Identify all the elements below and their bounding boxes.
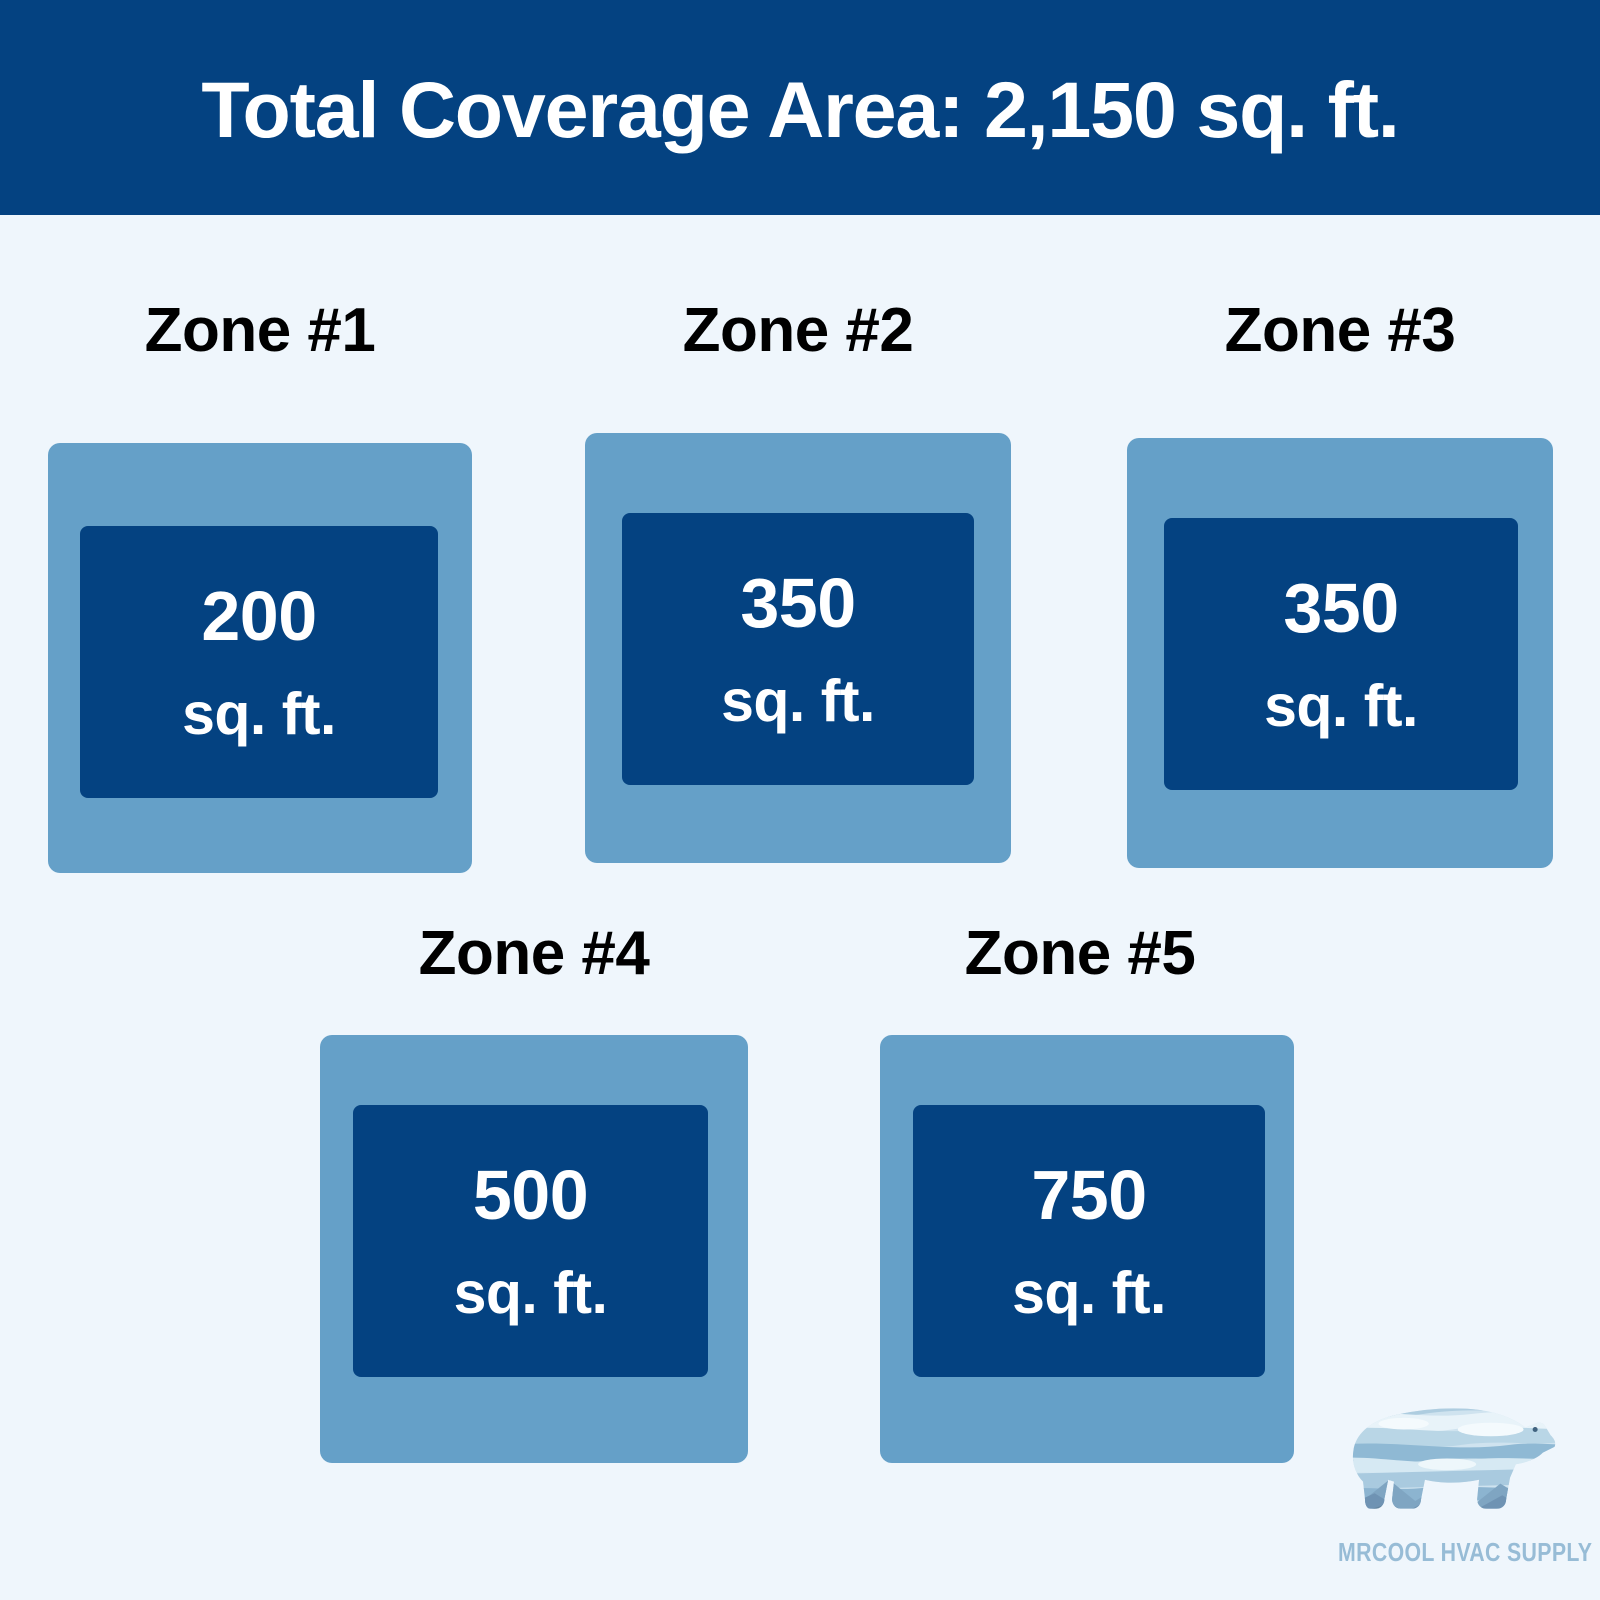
zone-inner-area-3: 350 sq. ft. [1164, 518, 1518, 790]
zone-card-2[interactable]: Zone #2 350 sq. ft. [585, 300, 1011, 863]
zone-outer-area-3: 350 sq. ft. [1127, 438, 1553, 868]
zone-card-1[interactable]: Zone #1 200 sq. ft. [48, 300, 472, 873]
zone-label-4: Zone #4 [320, 923, 748, 985]
zone-outer-area-1: 200 sq. ft. [48, 443, 472, 873]
zone-unit-2: sq. ft. [721, 672, 875, 731]
polar-bear-icon [1333, 1385, 1571, 1530]
brand-logo: MRCOOL HVAC SUPPLY [1315, 1385, 1585, 1590]
zone-label-1: Zone #1 [48, 300, 472, 362]
zone-outer-area-2: 350 sq. ft. [585, 433, 1011, 863]
zone-value-2: 350 [740, 568, 855, 638]
zone-card-3[interactable]: Zone #3 350 sq. ft. [1127, 300, 1553, 868]
infographic-page: Total Coverage Area: 2,150 sq. ft. Zone … [0, 0, 1600, 1600]
logo-wordmark: MRCOOL HVAC SUPPLY [1338, 1537, 1548, 1568]
zone-unit-1: sq. ft. [182, 685, 336, 744]
zone-label-3: Zone #3 [1127, 300, 1553, 362]
zone-inner-area-2: 350 sq. ft. [622, 513, 974, 785]
zone-label-5: Zone #5 [866, 923, 1294, 985]
zone-value-5: 750 [1031, 1160, 1146, 1230]
zone-card-4[interactable]: Zone #4 500 sq. ft. [320, 923, 748, 1463]
zone-outer-area-4: 500 sq. ft. [320, 1035, 748, 1463]
page-title: Total Coverage Area: 2,150 sq. ft. [201, 66, 1398, 149]
bear-eye-icon [1533, 1427, 1538, 1432]
zone-label-2: Zone #2 [585, 300, 1011, 362]
zone-value-4: 500 [473, 1160, 588, 1230]
zone-unit-3: sq. ft. [1264, 677, 1418, 736]
zone-card-5[interactable]: Zone #5 750 sq. ft. [866, 923, 1294, 1463]
zone-outer-area-5: 750 sq. ft. [880, 1035, 1294, 1463]
zone-unit-5: sq. ft. [1012, 1264, 1166, 1323]
zone-value-3: 350 [1283, 573, 1398, 643]
header-band: Total Coverage Area: 2,150 sq. ft. [0, 0, 1600, 215]
zone-inner-area-1: 200 sq. ft. [80, 526, 438, 798]
bear-landscape-fill [1336, 1385, 1568, 1530]
zone-unit-4: sq. ft. [454, 1264, 608, 1323]
zone-value-1: 200 [201, 581, 316, 651]
zone-inner-area-5: 750 sq. ft. [913, 1105, 1265, 1377]
zone-inner-area-4: 500 sq. ft. [353, 1105, 708, 1377]
